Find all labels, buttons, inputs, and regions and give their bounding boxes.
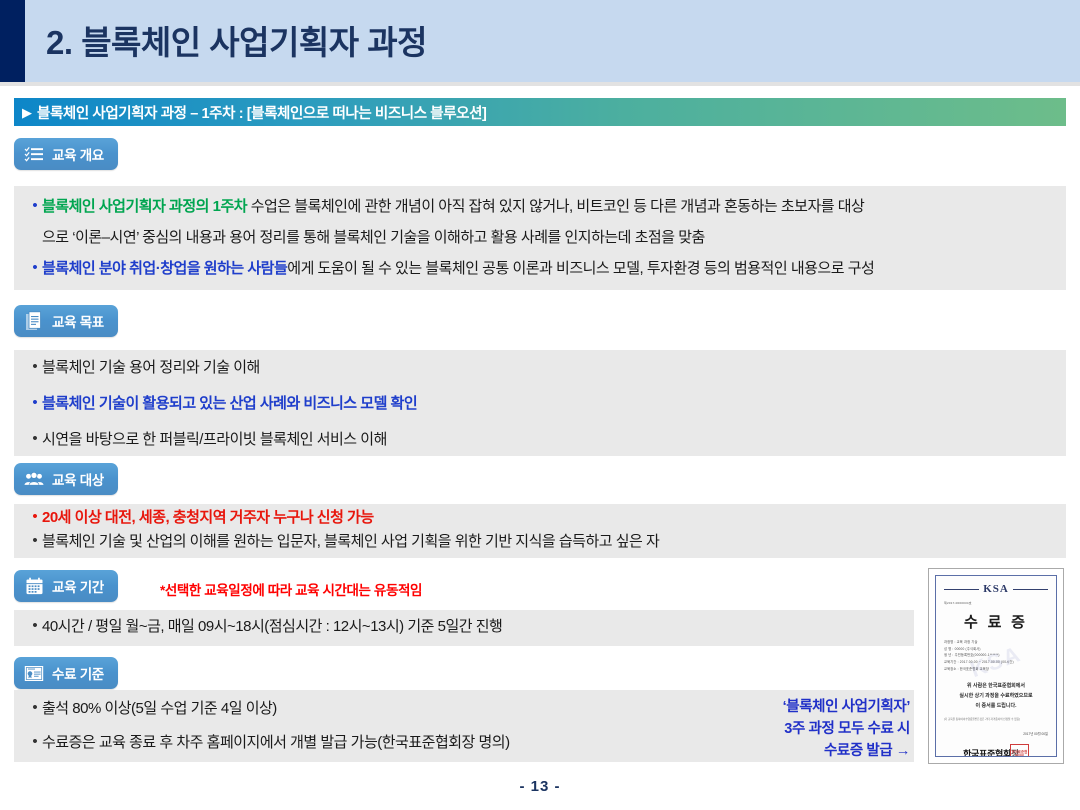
section-label-period: 교육 기간 xyxy=(14,570,118,602)
section-label-overview: 교육 개요 xyxy=(14,138,118,170)
certificate-fine-print: [기 교육을 통하여이수영증을받은것은 기타 자격증서의 인정될 수 없음] xyxy=(944,718,1048,723)
certificate-callout: ‘블록체인 사업기획자’ 3주 과정 모두 수료 시 수료증 발급 → xyxy=(640,697,910,762)
title-accent-bar xyxy=(0,0,25,82)
meta-line: 성 명 : 00000 (주식회사) xyxy=(944,646,1048,653)
checklist-icon xyxy=(24,144,44,164)
bullet-text: 블록체인 기술이 활용되고 있는 산업 사례와 비즈니스 모델 확인 xyxy=(42,395,417,412)
brand-rule-left xyxy=(944,589,979,590)
bullet-continuation: 으로 ‘이론–시연’ 중심의 내용과 용어 정리를 통해 블록체인 기술을 이해… xyxy=(42,229,705,246)
bullet-text: 으로 ‘이론–시연’ 중심의 내용과 용어 정리를 통해 블록체인 기술을 이해… xyxy=(42,229,705,246)
bullet-item: • 40시간 / 평일 월~금, 매일 09시~18시(점심시간 : 12시~1… xyxy=(28,618,502,635)
bullet-item: • 출석 80% 이상(5일 수업 기준 4일 이상) xyxy=(28,700,277,717)
official-seal-icon: 한국표준협회장인 xyxy=(1010,744,1029,757)
bullet-dot: • xyxy=(28,260,42,277)
panel-target: • 20세 이상 대전, 세종, 충청지역 거주자 누구나 신청 가능 • 블록… xyxy=(14,504,1066,558)
bullet-item: • 블록체인 기술 용어 정리와 기술 이해 xyxy=(28,359,260,376)
bullet-text: 블록체인 사업기획자 과정의 1주차 수업은 블록체인에 관한 개념이 아직 잡… xyxy=(42,198,864,215)
section-label-text: 교육 기간 xyxy=(52,576,104,596)
certificate-brand-row: KSA xyxy=(944,583,1048,595)
bullet-text: 시연을 바탕으로 한 퍼블릭/프라이빗 블록체인 서비스 이해 xyxy=(42,431,387,448)
section-label-completion: 수료 기준 xyxy=(14,657,118,689)
certificate-body: 위 사람은 한국표준협회에서 실시한 상기 과정을 수료하였으므로 이 증서를 … xyxy=(944,681,1048,711)
section-label-goal: 교육 목표 xyxy=(14,305,118,337)
bullet-dot: • xyxy=(28,533,42,550)
meta-line: 교육기간 : 2017.00.00 ~ 2017.00.00 (00시간) xyxy=(944,659,1048,666)
section-label-target: 교육 대상 xyxy=(14,463,118,495)
meta-line: 과정명 : 교육 과정 기술 xyxy=(944,639,1048,646)
document-icon xyxy=(24,311,44,331)
brand-rule-right xyxy=(1013,589,1048,590)
bullet-text: 수료증은 교육 종료 후 차주 홈페이지에서 개별 발급 가능(한국표준협회장 … xyxy=(42,734,510,751)
subtitle-banner: ▶ 블록체인 사업기획자 과정 – 1주차 : [블록체인으로 떠나는 비즈니스… xyxy=(14,98,1066,126)
bullet-item: • 블록체인 분야 취업·창업을 원하는 사람들에게 도움이 될 수 있는 블록… xyxy=(28,260,874,277)
panel-overview: • 블록체인 사업기획자 과정의 1주차 수업은 블록체인에 관한 개념이 아직… xyxy=(14,186,1066,290)
bullet-dot: • xyxy=(28,395,42,412)
section-label-text: 교육 목표 xyxy=(52,311,104,331)
section-label-text: 교육 대상 xyxy=(52,469,104,489)
page-number: - 13 - xyxy=(0,778,1080,795)
section-label-text: 교육 개요 xyxy=(52,144,104,164)
bullet-text: 블록체인 분야 취업·창업을 원하는 사람들에게 도움이 될 수 있는 블록체인… xyxy=(42,260,874,277)
people-icon xyxy=(24,469,44,489)
callout-line-3: 수료증 발급 → xyxy=(640,741,910,763)
bullet-item: • 수료증은 교육 종료 후 차주 홈페이지에서 개별 발급 가능(한국표준협회… xyxy=(28,734,510,751)
body-line: 이 증서를 드립니다. xyxy=(944,701,1048,711)
bullet-text: 20세 이상 대전, 세종, 충청지역 거주자 누구나 신청 가능 xyxy=(42,509,374,526)
certificate-number: 제2017-0000034호 xyxy=(944,601,1048,605)
bullet-dot: • xyxy=(28,198,42,215)
bullet-text: 블록체인 기술 용어 정리와 기술 이해 xyxy=(42,359,260,376)
meta-line: 생 년 : 주민등록번호(000000-1******) xyxy=(944,652,1048,659)
bullet-item: • 블록체인 기술이 활용되고 있는 산업 사례와 비즈니스 모델 확인 xyxy=(28,395,417,412)
bullet-item: • 20세 이상 대전, 세종, 충청지역 거주자 누구나 신청 가능 xyxy=(28,509,374,526)
bullet-item: • 블록체인 기술 및 산업의 이해를 원하는 입문자, 블록체인 사업 기획을… xyxy=(28,533,659,550)
calendar-icon xyxy=(24,576,44,596)
slide-title-header: 2. 블록체인 사업기획자 과정 xyxy=(0,0,1080,82)
header-divider xyxy=(0,82,1080,86)
bullet-dot: • xyxy=(28,431,42,448)
body-line: 실시한 상기 과정을 수료하였으므로 xyxy=(944,691,1048,701)
certificate-meta: 과정명 : 교육 과정 기술 성 명 : 00000 (주식회사) 생 년 : … xyxy=(944,639,1048,673)
callout-line-1: ‘블록체인 사업기획자’ xyxy=(640,697,910,719)
bullet-dot: • xyxy=(28,359,42,376)
body-line: 위 사람은 한국표준협회에서 xyxy=(944,681,1048,691)
certificate-title: 수 료 증 xyxy=(944,611,1048,632)
bullet-dot: • xyxy=(28,618,42,635)
triangle-right-icon: ▶ xyxy=(22,106,32,119)
panel-period: • 40시간 / 평일 월~금, 매일 09시~18시(점심시간 : 12시~1… xyxy=(14,610,914,646)
ksa-logo: KSA xyxy=(979,583,1013,595)
period-note: *선택한 교육일정에 따라 교육 시간대는 유동적임 xyxy=(160,579,422,599)
bullet-item: • 시연을 바탕으로 한 퍼블릭/프라이빗 블록체인 서비스 이해 xyxy=(28,431,387,448)
bullet-item: • 블록체인 사업기획자 과정의 1주차 수업은 블록체인에 관한 개념이 아직… xyxy=(28,198,864,215)
certificate-thumbnail: KSA KSA 제2017-0000034호 수 료 증 과정명 : 교육 과정… xyxy=(928,568,1064,764)
meta-line: 교육장소 : 한국표준협회 교육장 xyxy=(944,666,1048,673)
callout-line-2: 3주 과정 모두 수료 시 xyxy=(640,719,910,741)
subtitle-text: 블록체인 사업기획자 과정 – 1주차 : [블록체인으로 떠나는 비즈니스 블… xyxy=(37,102,486,123)
bullet-text: 40시간 / 평일 월~금, 매일 09시~18시(점심시간 : 12시~13시… xyxy=(42,618,502,635)
bullet-dot: • xyxy=(28,700,42,717)
bullet-dot: • xyxy=(28,509,42,526)
bullet-dot: • xyxy=(28,734,42,751)
certificate-page: KSA KSA 제2017-0000034호 수 료 증 과정명 : 교육 과정… xyxy=(935,575,1057,757)
panel-goal: • 블록체인 기술 용어 정리와 기술 이해 • 블록체인 기술이 활용되고 있… xyxy=(14,350,1066,456)
certificate-date: 2017년 00월 00일 xyxy=(944,731,1048,736)
certificate-icon xyxy=(24,663,44,683)
bullet-text: 출석 80% 이상(5일 수업 기준 4일 이상) xyxy=(42,700,277,717)
page-title: 2. 블록체인 사업기획자 과정 xyxy=(46,16,427,64)
bullet-text: 블록체인 기술 및 산업의 이해를 원하는 입문자, 블록체인 사업 기획을 위… xyxy=(42,533,659,550)
certificate-signature-row: 한국표준협회장 한국표준협회장인 xyxy=(944,744,1048,757)
section-label-text: 수료 기준 xyxy=(52,663,104,683)
